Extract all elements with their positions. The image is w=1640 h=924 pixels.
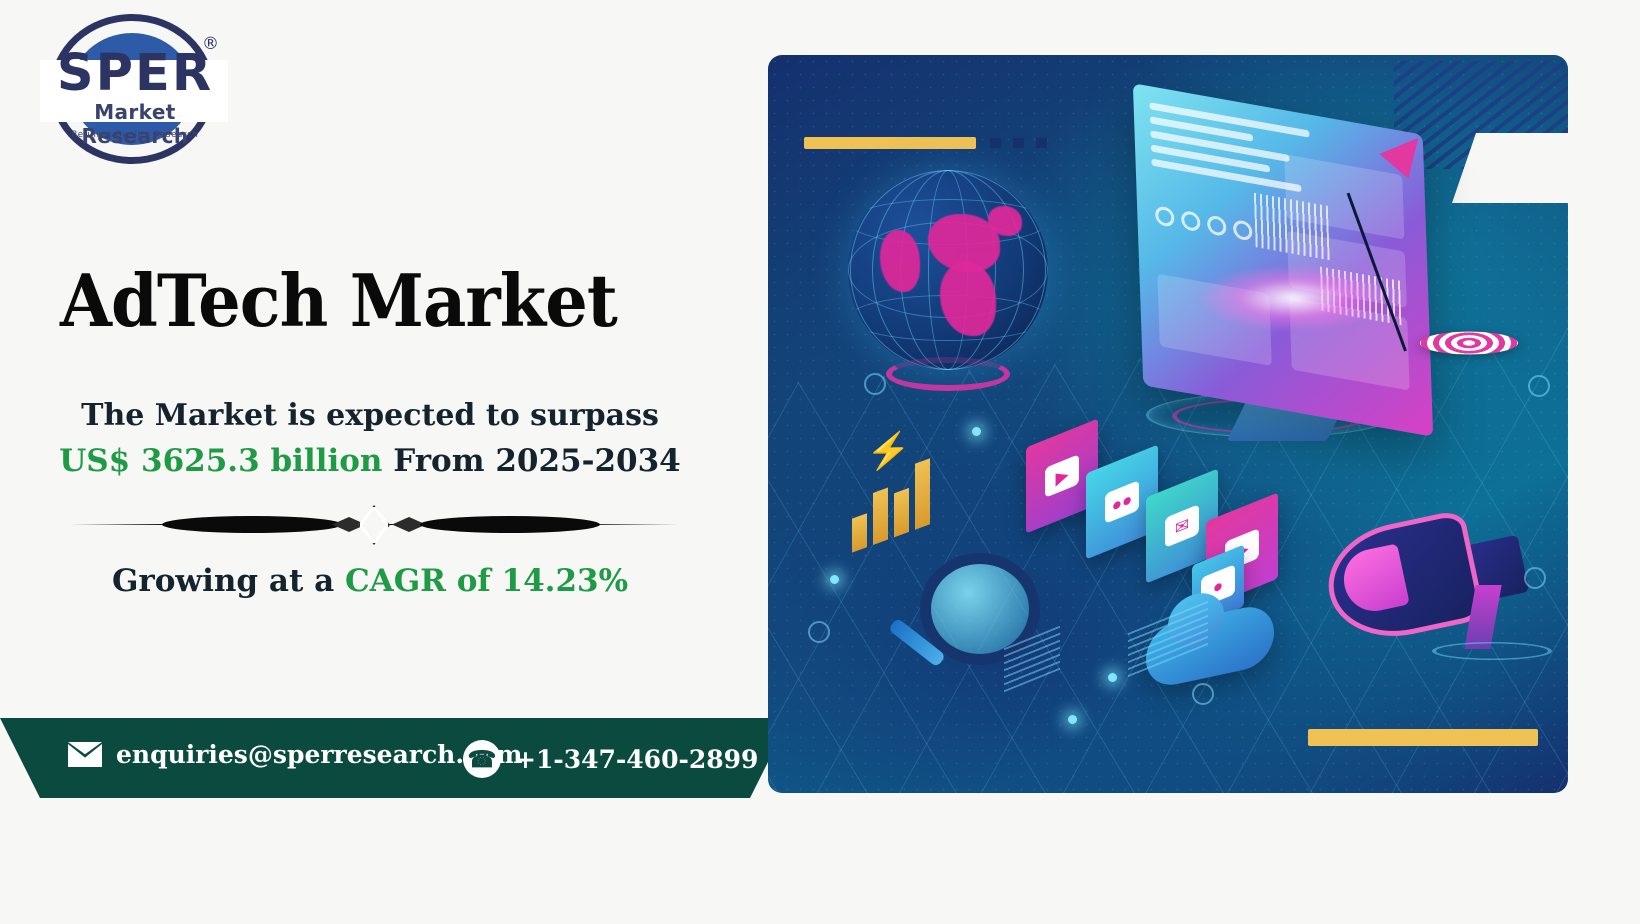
gold-accent-bar-bottom: [1308, 729, 1538, 746]
megaphone-base-ring: [1432, 642, 1552, 660]
dashboard-monitor: [1133, 83, 1433, 437]
target-icon: [1420, 332, 1518, 355]
stat-line-two: US$ 3625.3 billion From 2025-2034: [0, 443, 740, 479]
cagr-value: CAGR of 14.23%: [345, 563, 628, 599]
ornamental-divider: [70, 505, 678, 545]
decor-ring-5: [1192, 683, 1214, 705]
phone-number: +1-347-460-2899: [515, 745, 758, 774]
monitor-glow: [1198, 265, 1388, 331]
phone-glyph: ☎: [468, 748, 497, 771]
glow-dot-3: [1108, 673, 1117, 682]
glow-dot-4: [1068, 715, 1077, 724]
adtech-illustration: ▶ ●● ✉ ▶ ● ⚡: [768, 55, 1568, 793]
wireframe-globe-icon: [848, 170, 1048, 370]
divider-lens-right: [420, 516, 600, 533]
phone-icon: ☎: [463, 740, 501, 778]
logo-subtitle: Market Research: [40, 100, 230, 148]
divider-diamond-inner: [362, 509, 386, 541]
glow-dot-2: [830, 575, 839, 584]
chat-icon: ●●: [1105, 480, 1139, 524]
sper-logo: SPER Market Research ® Refining Quality …: [24, 8, 244, 173]
play-icon: ▶: [1045, 454, 1079, 498]
stat-line-one: The Market is expected to surpass: [0, 398, 740, 433]
registered-trademark-icon: ®: [202, 34, 219, 54]
decor-ring-3: [1528, 375, 1550, 397]
forecast-period: From 2025-2034: [393, 443, 681, 479]
contact-email[interactable]: enquiries@sperresearch.com: [68, 740, 522, 769]
envelope-icon: [68, 742, 102, 767]
mail-icon: ✉: [1165, 504, 1199, 548]
globe-base-ring: [886, 357, 1010, 391]
email-address: enquiries@sperresearch.com: [116, 740, 522, 769]
cagr-prefix: Growing at a: [112, 563, 345, 599]
decor-ring-4: [1524, 567, 1546, 589]
gold-accent-bar-top: [804, 137, 976, 149]
decor-ring-1: [864, 373, 886, 395]
contact-phone[interactable]: ☎ +1-347-460-2899: [463, 740, 758, 778]
three-dots-decoration: [990, 138, 1047, 148]
market-value: US$ 3625.3 billion: [59, 443, 382, 479]
divider-lens-left: [162, 516, 342, 533]
glow-dot-1: [972, 427, 981, 436]
decor-ring-2: [808, 621, 830, 643]
logo-wordmark: SPER: [40, 48, 230, 99]
page-title: AdTech Market: [60, 258, 692, 343]
cagr-line: Growing at a CAGR of 14.23%: [0, 563, 740, 599]
logo-tagline: Refining Quality Research: [59, 130, 212, 140]
